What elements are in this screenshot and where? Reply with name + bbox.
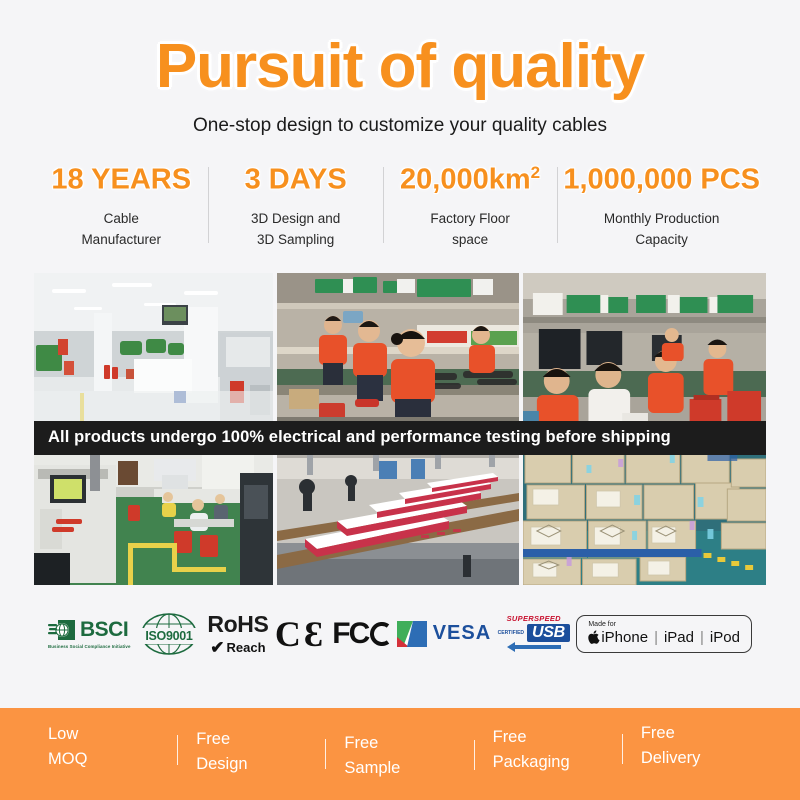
benefit-line1: Free (641, 724, 675, 742)
check-icon: ✔ (210, 639, 224, 656)
benefit-line2: Packaging (493, 753, 570, 771)
bsci-wordmark: BSCI (80, 618, 128, 642)
fcc-mark-logo: FC (332, 617, 390, 651)
packaging-conveyor-photo (277, 435, 519, 585)
assembly-line-workers-photo (277, 273, 519, 431)
factory-floor-overview-photo (34, 273, 273, 431)
benefit-item-free-design: Free Design (178, 727, 325, 777)
stat-label-line2: Manufacturer (81, 232, 161, 247)
benefit-item-free-packaging: Free Packaging (475, 725, 622, 775)
superspeed-usb-logo: SUPERSPEED CERTIFIED USB (498, 615, 570, 653)
vesa-mark-icon (397, 619, 427, 649)
hero-section: Pursuit of quality One-stop design to cu… (0, 0, 800, 137)
bsci-tagline: Business Social Compliance Initiative (48, 644, 131, 649)
stat-label-line1: Cable (104, 211, 139, 226)
benefit-item-free-sample: Free Sample (326, 731, 473, 781)
stat-item-floor-space: 20,000km2 Factory Floor space (383, 163, 557, 251)
stat-label: Monthly Production Capacity (563, 209, 760, 251)
stat-label: Factory Floor space (389, 209, 551, 251)
stat-label: 3D Design and 3D Sampling (214, 209, 376, 251)
benefit-line1: Low (48, 725, 78, 743)
ipad-label: iPad (664, 629, 694, 646)
ce-mark-logo: CƐ (275, 613, 326, 655)
benefit-line2: Delivery (641, 749, 701, 767)
warehouse-cartons-photo (523, 435, 766, 585)
stat-label-line2: 3D Sampling (257, 232, 334, 247)
vesa-wordmark: VESA (433, 622, 491, 645)
stat-item-days: 3 DAYS 3D Design and 3D Sampling (208, 163, 382, 251)
stat-label-line2: space (452, 232, 488, 247)
stat-value: 20,000km2 (389, 163, 551, 197)
marketing-infographic: Pursuit of quality One-stop design to cu… (0, 0, 800, 800)
quality-testing-banner: All products undergo 100% electrical and… (34, 421, 766, 455)
ce-wordmark: CƐ (275, 613, 326, 655)
service-benefits-bar: Low MOQ Free Design Free Sample Free Pac… (0, 708, 800, 800)
benefit-line1: Free (344, 734, 378, 752)
gallery-row-top (34, 273, 766, 431)
benefit-line2: MOQ (48, 750, 87, 768)
ipod-label: iPod (710, 629, 740, 646)
certification-logos-row: BSCI Business Social Compliance Initiati… (48, 607, 752, 661)
apple-logo-icon (588, 630, 600, 644)
iso9001-logo: ISO9001 (137, 611, 201, 657)
vesa-logo: VESA (397, 619, 491, 649)
stats-row: 18 YEARS Cable Manufacturer 3 DAYS 3D De… (34, 163, 766, 251)
made-for-apple-badge: Made for iPhone | iPad | iPod (576, 615, 752, 653)
stat-label: Cable Manufacturer (40, 209, 202, 251)
stat-value: 3 DAYS (214, 163, 376, 197)
stat-label-line2: Capacity (635, 232, 688, 247)
made-for-label: Made for (588, 621, 616, 628)
stat-value: 18 YEARS (40, 163, 202, 197)
bsci-globe-icon (48, 618, 76, 642)
bsci-logo: BSCI Business Social Compliance Initiati… (48, 618, 131, 649)
stat-item-capacity: 1,000,000 PCS Monthly Production Capacit… (557, 163, 766, 251)
benefit-item-low-moq: Low MOQ (30, 722, 177, 772)
reach-wordmark: Reach (227, 640, 266, 655)
benefit-line1: Free (196, 730, 230, 748)
fcc-c-glyph (368, 619, 390, 649)
usb-wordmark: USB (527, 624, 570, 642)
banner-text: All products undergo 100% electrical and… (48, 428, 671, 447)
stat-label-line1: Monthly Production (604, 211, 720, 226)
badge-separator: | (654, 629, 658, 646)
benefit-line1: Free (493, 728, 527, 746)
iso9001-wordmark: ISO9001 (137, 628, 201, 644)
badge-separator: | (700, 629, 704, 646)
benefit-line2: Design (196, 755, 247, 773)
benefit-line2: Sample (344, 759, 400, 777)
usb-certified-label: CERTIFIED (498, 631, 524, 636)
testing-qc-station-photo (523, 273, 766, 431)
page-title: Pursuit of quality (0, 34, 800, 99)
stat-label-line1: Factory Floor (430, 211, 510, 226)
page-subtitle: One-stop design to customize your qualit… (0, 115, 800, 137)
rohs-reach-logo: RoHS ✔ Reach (207, 611, 268, 656)
stat-item-years: 18 YEARS Cable Manufacturer (34, 163, 208, 251)
benefit-item-free-delivery: Free Delivery (623, 721, 770, 771)
superspeed-label: SUPERSPEED (507, 615, 561, 623)
fcc-wordmark: FC (332, 617, 368, 651)
photo-gallery: All products undergo 100% electrical and… (34, 273, 766, 585)
rohs-wordmark: RoHS (207, 611, 268, 638)
gallery-row-bottom (34, 435, 766, 585)
smt-production-line-photo (34, 435, 273, 585)
stat-label-line1: 3D Design and (251, 211, 340, 226)
stat-value: 1,000,000 PCS (563, 163, 760, 197)
usb-arrow-icon (507, 642, 561, 652)
iphone-label: iPhone (601, 629, 648, 646)
